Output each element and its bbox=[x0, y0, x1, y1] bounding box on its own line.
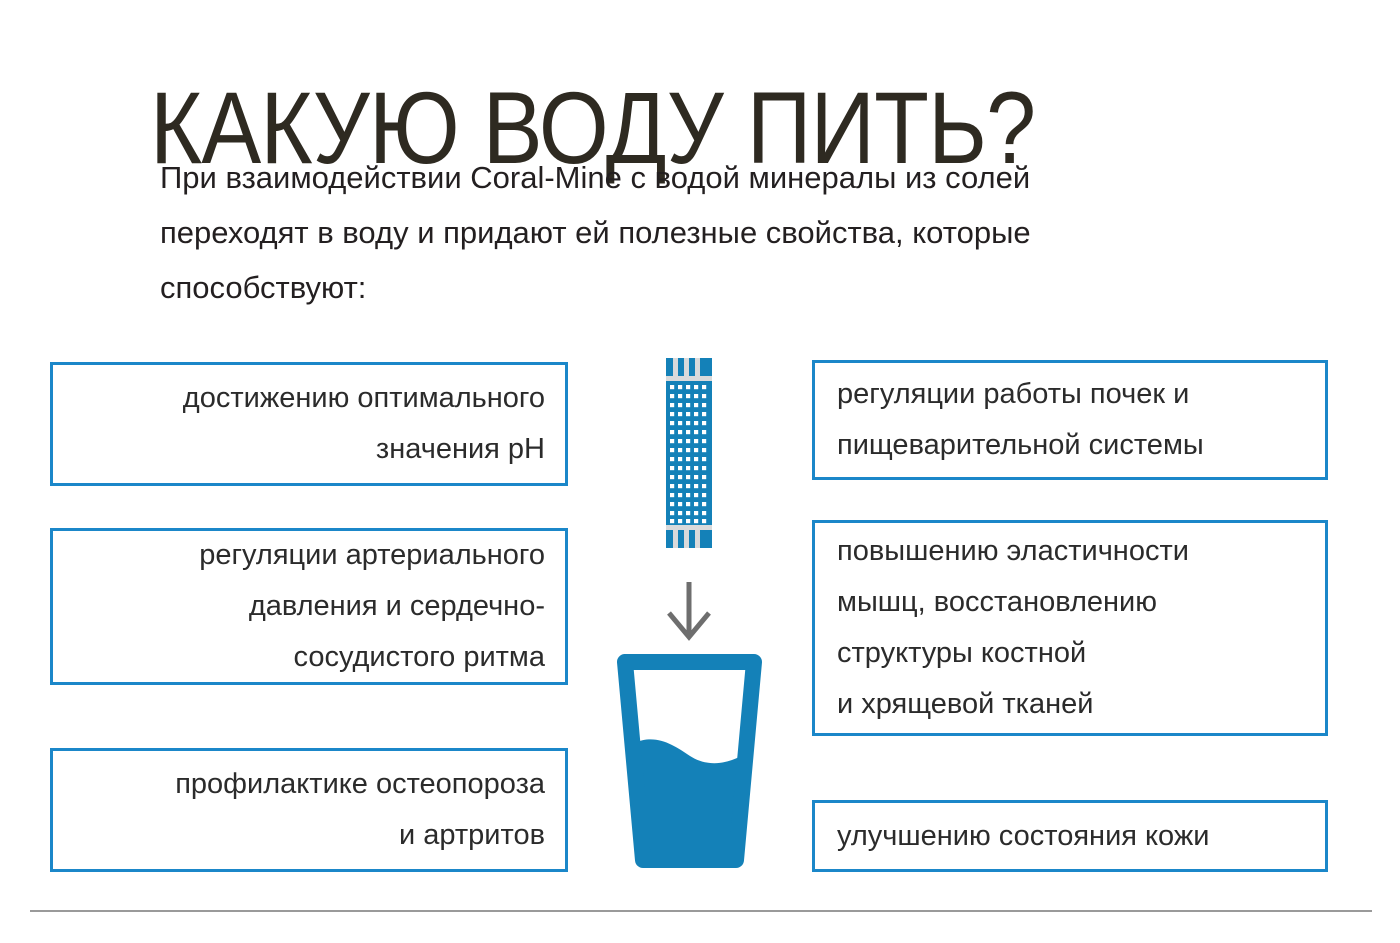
subtitle-line-3: способствуют: bbox=[160, 260, 1260, 315]
benefit-box-left-3: профилактике остеопороза и артритов bbox=[50, 748, 568, 872]
benefit-left-2-line-3: сосудистого ритма bbox=[67, 632, 545, 683]
benefit-right-2-line-3: структуры костной bbox=[837, 628, 1311, 679]
benefit-box-right-3: улучшению состояния кожи bbox=[812, 800, 1328, 872]
subtitle-line-1: При взаимодействии Coral-Mine с водой ми… bbox=[160, 150, 1260, 205]
benefit-right-1-line-2: пищеварительной системы bbox=[837, 420, 1311, 471]
infographic-page: КАКУЮ ВОДУ ПИТЬ? При взаимодействии Cora… bbox=[0, 0, 1400, 943]
benefit-box-left-2: регуляции артериального давления и серде… bbox=[50, 528, 568, 685]
subtitle-paragraph: При взаимодействии Coral-Mine с водой ми… bbox=[160, 150, 1260, 315]
benefit-right-1-line-1: регуляции работы почек и bbox=[837, 369, 1311, 420]
bottom-divider bbox=[30, 910, 1372, 912]
benefit-left-3-line-1: профилактике остеопороза bbox=[67, 759, 545, 810]
benefit-left-1-line-2: значения рН bbox=[67, 424, 545, 475]
benefit-left-2-line-1: регуляции артериального bbox=[67, 530, 545, 581]
benefit-left-2-line-2: давления и сердечно- bbox=[67, 581, 545, 632]
water-glass-icon bbox=[612, 652, 767, 872]
benefit-right-3-line-1: улучшению состояния кожи bbox=[837, 811, 1311, 862]
subtitle-line-2: переходят в воду и придают ей полезные с… bbox=[160, 205, 1260, 260]
benefit-right-2-line-2: мышц, восстановлению bbox=[837, 577, 1311, 628]
benefit-right-2-line-4: и хрящевой тканей bbox=[837, 679, 1311, 730]
benefit-box-left-1: достижению оптимального значения рН bbox=[50, 362, 568, 486]
benefit-left-1-line-1: достижению оптимального bbox=[67, 373, 545, 424]
benefit-box-right-1: регуляции работы почек и пищеварительной… bbox=[812, 360, 1328, 480]
benefit-left-3-line-2: и артритов bbox=[67, 810, 545, 861]
down-arrow-icon bbox=[663, 580, 715, 642]
sachet-icon bbox=[666, 358, 712, 548]
benefit-right-2-line-1: повышению эластичности bbox=[837, 526, 1311, 577]
benefit-box-right-2: повышению эластичности мышц, восстановле… bbox=[812, 520, 1328, 736]
